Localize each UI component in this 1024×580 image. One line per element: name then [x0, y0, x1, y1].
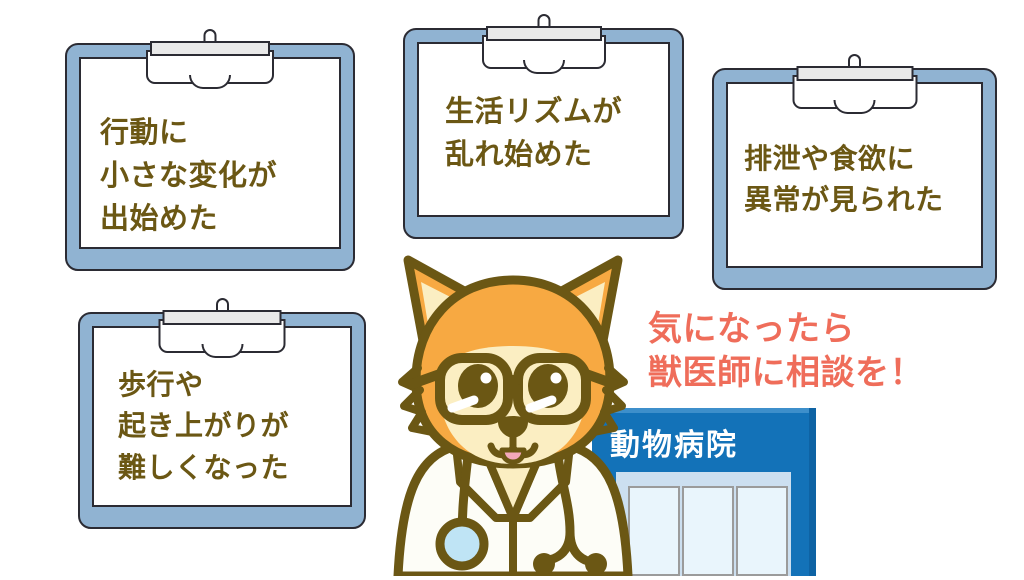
clipboard-clip [159, 298, 286, 358]
clipboard-life-rhythm: 生活リズムが 乱れ始めた [403, 28, 684, 239]
clip-notch [523, 60, 565, 74]
tongue [502, 450, 524, 462]
clip-notch [201, 344, 243, 358]
veterinarian-shiba-dog [378, 250, 648, 576]
clip-bar [486, 26, 602, 41]
clipboard-walking-difficulty: 歩行や 起き上がりが 難しくなった [78, 312, 366, 529]
clipboard-clip [146, 29, 274, 89]
hospital-glass-panel [682, 486, 734, 576]
left-eye-highlight [481, 373, 492, 384]
hospital-glass-panel [736, 486, 788, 576]
illustration-canvas: 行動に 小さな変化が 出始めた 生活リズムが 乱れ始めた 排泄や食欲に 異常が見… [0, 0, 1024, 576]
clip-bar [150, 41, 270, 56]
stethoscope-earpiece-right [585, 553, 607, 575]
stethoscope-chest-piece [440, 522, 484, 566]
clip-notch [834, 100, 876, 114]
clipboard-text: 生活リズムが 乱れ始めた [445, 90, 622, 176]
clip-bar [163, 310, 282, 325]
clipboard-behavior-change: 行動に 小さな変化が 出始めた [65, 43, 355, 271]
vet-consult-callout: 気になったら 獣医師に相談を！ [648, 307, 924, 395]
clipboard-text: 行動に 小さな変化が 出始めた [100, 111, 277, 240]
clip-notch [189, 75, 231, 89]
clip-bar [796, 66, 913, 81]
hospital-side-wall [809, 408, 816, 576]
clipboard-text: 排泄や食欲に 異常が見られた [744, 138, 944, 221]
right-eye-highlight [551, 373, 562, 384]
stethoscope-earpiece-left [533, 553, 555, 575]
clipboard-excretion-appetite: 排泄や食欲に 異常が見られた [712, 68, 997, 290]
clipboard-text: 歩行や 起き上がりが 難しくなった [118, 364, 289, 488]
clipboard-clip [792, 54, 917, 114]
clipboard-clip [482, 14, 606, 74]
